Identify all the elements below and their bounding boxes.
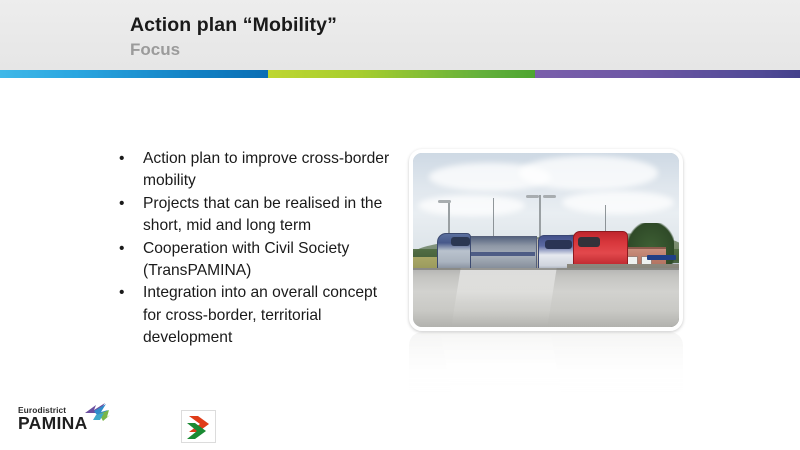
- platform-edge: [413, 268, 679, 270]
- region-chevron-logo: [181, 410, 216, 443]
- accent-segment-purple: [535, 70, 800, 78]
- bullet-marker: •: [119, 282, 124, 304]
- photo-frame: Railway station platform with a blue-and…: [409, 149, 683, 331]
- accent-segment-green: [268, 70, 535, 78]
- pamina-mark-icon: [84, 402, 110, 422]
- header-text-block: Action plan “Mobility” Focus: [130, 13, 337, 61]
- slide-body: • Action plan to improve cross-border mo…: [0, 78, 800, 450]
- lamp-head: [543, 195, 556, 198]
- lamp-head: [526, 195, 539, 198]
- train-windshield: [451, 237, 471, 247]
- presentation-slide: Action plan “Mobility” Focus • Action pl…: [0, 0, 800, 450]
- accent-color-bar: [0, 70, 800, 78]
- list-item-label: Cooperation with Civil Society (TransPAM…: [143, 240, 349, 279]
- pamina-name-label: PAMINA: [18, 415, 88, 433]
- cloud: [519, 156, 657, 189]
- cloud: [418, 195, 524, 216]
- pamina-wordmark: Eurodistrict PAMINA: [18, 406, 88, 433]
- region-chevron-icon: [182, 411, 215, 442]
- list-item: • Integration into an overall concept fo…: [113, 282, 396, 349]
- list-item: • Action plan to improve cross-border mo…: [113, 148, 396, 193]
- photo-reflection: [409, 332, 683, 406]
- list-item-label: Action plan to improve cross-border mobi…: [143, 150, 389, 189]
- train-windshield: [578, 237, 600, 247]
- photo-scene: Railway station platform with a blue-and…: [413, 153, 679, 327]
- eurodistrict-pamina-logo: Eurodistrict PAMINA: [18, 404, 108, 440]
- bullet-marker: •: [119, 193, 124, 215]
- reflection-shine: [441, 332, 564, 406]
- railway-station-photo: Railway station platform with a blue-and…: [409, 149, 683, 331]
- bullet-list: • Action plan to improve cross-border mo…: [113, 148, 396, 350]
- station-sign: [647, 255, 676, 261]
- list-item: • Cooperation with Civil Society (TransP…: [113, 238, 396, 283]
- list-item-label: Projects that can be realised in the sho…: [143, 195, 382, 234]
- platform-reflection: [451, 268, 556, 327]
- lamp-head: [438, 200, 451, 203]
- page-title: Action plan “Mobility”: [130, 13, 337, 37]
- bullet-marker: •: [119, 238, 124, 260]
- train-blue-silver: [437, 230, 535, 274]
- list-item: • Projects that can be realised in the s…: [113, 193, 396, 238]
- accent-segment-blue: [0, 70, 268, 78]
- page-subtitle: Focus: [130, 39, 337, 61]
- bullet-marker: •: [119, 148, 124, 170]
- list-item-label: Integration into an overall concept for …: [143, 284, 377, 346]
- slide-header: Action plan “Mobility” Focus: [0, 0, 800, 70]
- train-windshield: [545, 240, 572, 248]
- cloud: [562, 191, 674, 214]
- train-stripe: [467, 252, 535, 256]
